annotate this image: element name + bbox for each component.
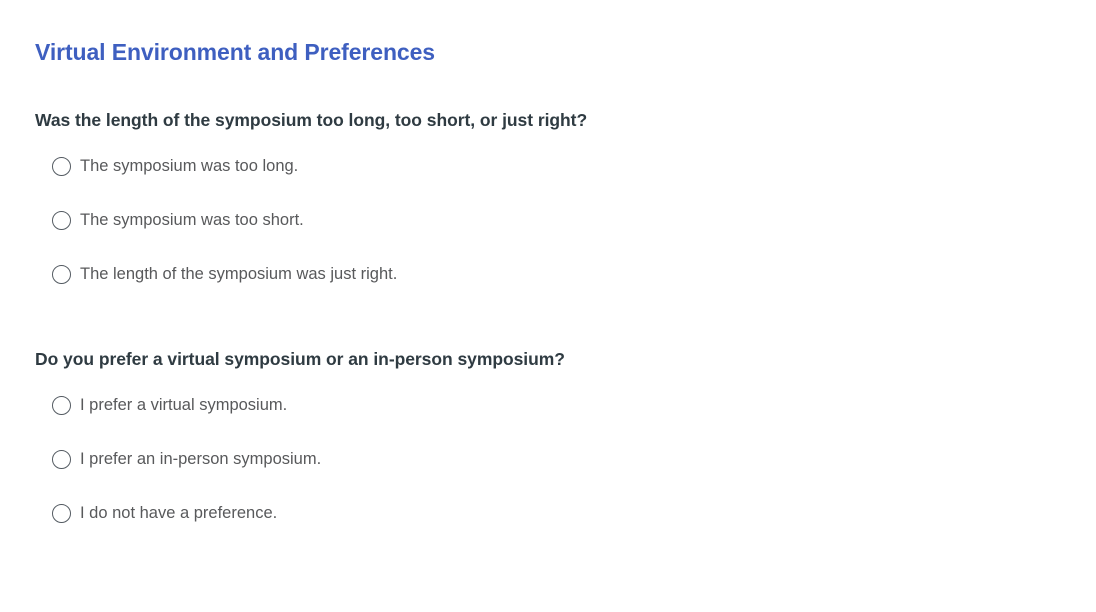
radio-option-label: I do not have a preference. xyxy=(80,502,277,524)
page-title: Virtual Environment and Preferences xyxy=(35,0,1061,66)
radio-option-no-preference[interactable]: I do not have a preference. xyxy=(35,498,1061,528)
question-block-length: Was the length of the symposium too long… xyxy=(35,108,1061,289)
radio-unchecked-icon[interactable] xyxy=(52,450,71,469)
radio-unchecked-icon[interactable] xyxy=(52,504,71,523)
radio-option-label: The length of the symposium was just rig… xyxy=(80,263,397,285)
radio-unchecked-icon[interactable] xyxy=(52,265,71,284)
radio-option-label: The symposium was too short. xyxy=(80,209,304,231)
radio-unchecked-icon[interactable] xyxy=(52,211,71,230)
question-text: Was the length of the symposium too long… xyxy=(35,108,1061,132)
survey-page: Virtual Environment and Preferences Was … xyxy=(0,0,1096,612)
radio-group-length: The symposium was too long. The symposiu… xyxy=(35,151,1061,289)
question-block-preference: Do you prefer a virtual symposium or an … xyxy=(35,347,1061,528)
radio-group-preference: I prefer a virtual symposium. I prefer a… xyxy=(35,390,1061,528)
radio-option-label: I prefer an in-person symposium. xyxy=(80,448,321,470)
radio-option-too-long[interactable]: The symposium was too long. xyxy=(35,151,1061,181)
radio-option-just-right[interactable]: The length of the symposium was just rig… xyxy=(35,259,1061,289)
radio-unchecked-icon[interactable] xyxy=(52,396,71,415)
question-text: Do you prefer a virtual symposium or an … xyxy=(35,347,1061,371)
radio-option-prefer-virtual[interactable]: I prefer a virtual symposium. xyxy=(35,390,1061,420)
radio-option-label: I prefer a virtual symposium. xyxy=(80,394,287,416)
radio-option-label: The symposium was too long. xyxy=(80,155,298,177)
radio-unchecked-icon[interactable] xyxy=(52,157,71,176)
radio-option-prefer-in-person[interactable]: I prefer an in-person symposium. xyxy=(35,444,1061,474)
radio-option-too-short[interactable]: The symposium was too short. xyxy=(35,205,1061,235)
